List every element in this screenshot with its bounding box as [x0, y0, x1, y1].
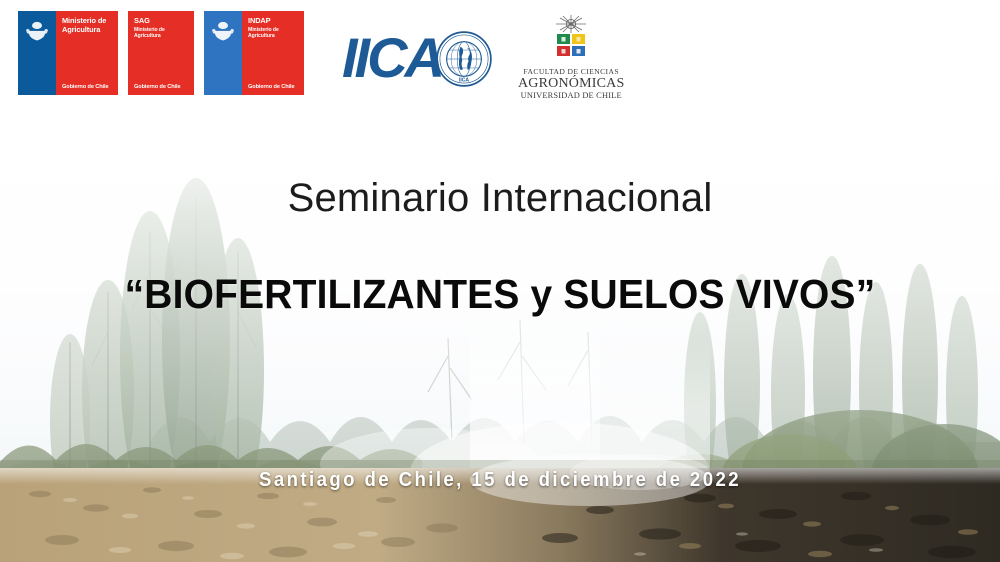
sag-subtitle: Ministerio deAgricultura [134, 27, 189, 39]
minagri-footer: Gobierno de Chile [62, 84, 108, 90]
coat-of-arms-icon [24, 20, 50, 42]
uchile-shield-icon [547, 13, 595, 65]
coat-of-arms-icon [210, 20, 236, 42]
uchile-line1: FACULTAD DE CIENCIAS [518, 67, 624, 76]
minagri-blue-pane [18, 11, 56, 95]
logo-ministerio-agricultura: Ministerio de Agricultura Gobierno de Ch… [18, 11, 118, 95]
iica-seal-abbrev: IICA [459, 77, 469, 83]
sag-name: SAG [134, 17, 189, 26]
logo-strip: Ministerio de Agricultura Gobierno de Ch… [18, 11, 624, 101]
indap-red-pane: INDAP Ministerio deAgricultura Gobierno … [242, 11, 304, 95]
uchile-text-block: FACULTAD DE CIENCIAS AGRONÓMICAS UNIVERS… [518, 67, 624, 101]
iica-wordmark: IICA [342, 30, 442, 86]
uchile-line2: AGRONÓMICAS [518, 76, 624, 91]
iica-globe-seal-icon: IICA [436, 31, 492, 87]
seminar-title: “BIOFERTILIZANTES y SUELOS VIVOS” [25, 272, 975, 316]
minagri-red-pane: Ministerio de Agricultura Gobierno de Ch… [56, 11, 118, 95]
seminar-date-location: Santiago de Chile, 15 de diciembre de 20… [35, 469, 965, 491]
indap-name: INDAP [248, 17, 299, 26]
presentation-slide: Ministerio de Agricultura Gobierno de Ch… [0, 0, 1000, 562]
logo-indap: INDAP Ministerio deAgricultura Gobierno … [204, 11, 304, 95]
seminar-kicker-text: Seminario Internacional [0, 176, 1000, 220]
uchile-line3: UNIVERSIDAD DE CHILE [518, 91, 624, 101]
logo-iica: IICA IICA [342, 29, 492, 87]
indap-footer: Gobierno de Chile [248, 84, 294, 90]
logo-universidad-de-chile: FACULTAD DE CIENCIAS AGRONÓMICAS UNIVERS… [518, 13, 624, 101]
logo-sag: SAG Ministerio deAgricultura Gobierno de… [128, 11, 194, 95]
sag-footer: Gobierno de Chile [134, 84, 180, 90]
logo-header-band: Ministerio de Agricultura Gobierno de Ch… [0, 0, 1000, 142]
sag-red-pane: SAG Ministerio deAgricultura Gobierno de… [128, 11, 194, 95]
indap-subtitle: Ministerio deAgricultura [248, 27, 299, 39]
minagri-name-line2: Agricultura [62, 26, 113, 35]
indap-blue-pane [204, 11, 242, 95]
